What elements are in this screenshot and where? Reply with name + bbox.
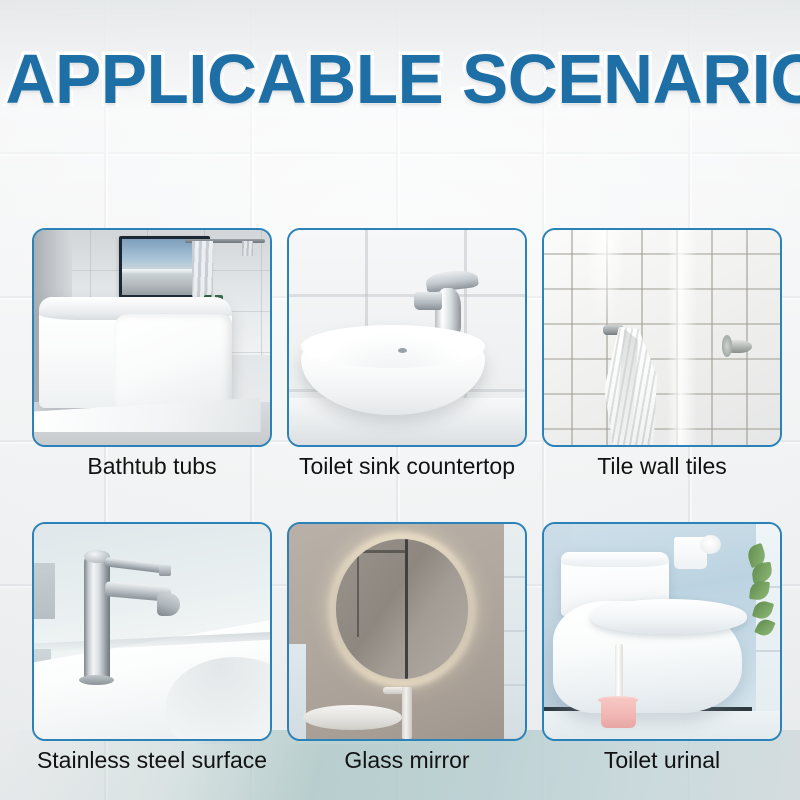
plant-leaf <box>754 617 775 639</box>
hanging-towel <box>192 241 213 299</box>
steel-faucet-column <box>84 556 110 681</box>
right-wall-tiles <box>504 524 525 739</box>
page-title-container: APPLICABLE SCENARIO SCOPE <box>0 46 800 112</box>
glass-mirror-photo <box>287 522 527 741</box>
tile-light-reflection <box>667 230 698 445</box>
faucet-spout <box>414 292 442 309</box>
scenario-card-glass-mirror[interactable]: Glass mirror <box>287 522 527 741</box>
toilet-seat-lid <box>591 599 747 633</box>
steel-faucet-lever-tip <box>159 565 171 576</box>
toilet-tank-lid <box>561 552 670 567</box>
scenario-card-sink-countertop[interactable]: Toilet sink countertop <box>287 228 527 447</box>
towel-hook-right <box>726 340 752 353</box>
scenario-card-bathtub[interactable]: Bathtub tubs <box>32 228 272 447</box>
scenario-card-toilet-urinal[interactable]: Toilet urinal <box>542 522 782 741</box>
wall-tiles-photo <box>542 228 782 447</box>
bathroom-floor-tiles <box>544 711 780 739</box>
card-caption-toilet-urinal: Toilet urinal <box>497 746 800 774</box>
sink-countertop-photo <box>287 228 527 447</box>
card-caption-wall-tiles: Tile wall tiles <box>497 452 800 480</box>
tile-light-reflection-secondary <box>586 230 624 329</box>
stainless-steel-photo <box>32 522 272 741</box>
basin-faucet-column <box>402 687 411 739</box>
mirror-reflection-door-edge <box>405 539 408 679</box>
vessel-sink-rim <box>301 325 485 368</box>
scenario-card-wall-tiles[interactable]: Tile wall tiles <box>542 228 782 447</box>
potted-plant <box>747 537 780 666</box>
plant-leaf <box>749 580 770 601</box>
scenario-card-grid: Bathtub tubs Toilet sink countertop <box>32 228 782 741</box>
scenario-card-stainless-steel[interactable]: Stainless steel surface <box>32 522 272 741</box>
square-tile-grid <box>544 230 780 445</box>
round-led-mirror <box>336 539 468 679</box>
background-tile-upper <box>34 563 55 619</box>
mirror-reflection-frame-left <box>357 550 359 637</box>
infographic-page: APPLICABLE SCENARIO SCOPE Bathtub tubs <box>0 0 800 800</box>
mirror-reflection-frame-top <box>357 550 407 553</box>
toilet-brush-holder <box>601 698 636 728</box>
page-title: APPLICABLE SCENARIO SCOPE <box>5 46 800 112</box>
sink-overflow-hole <box>398 348 407 353</box>
bathtub-photo <box>32 228 272 447</box>
toilet-urinal-photo <box>542 522 782 741</box>
bathtub-front-panel <box>114 314 232 411</box>
hanging-towel-small <box>242 241 254 256</box>
toilet-paper-roll <box>700 535 721 554</box>
left-wall-tiles <box>289 644 306 739</box>
plant-leaf <box>752 599 774 621</box>
